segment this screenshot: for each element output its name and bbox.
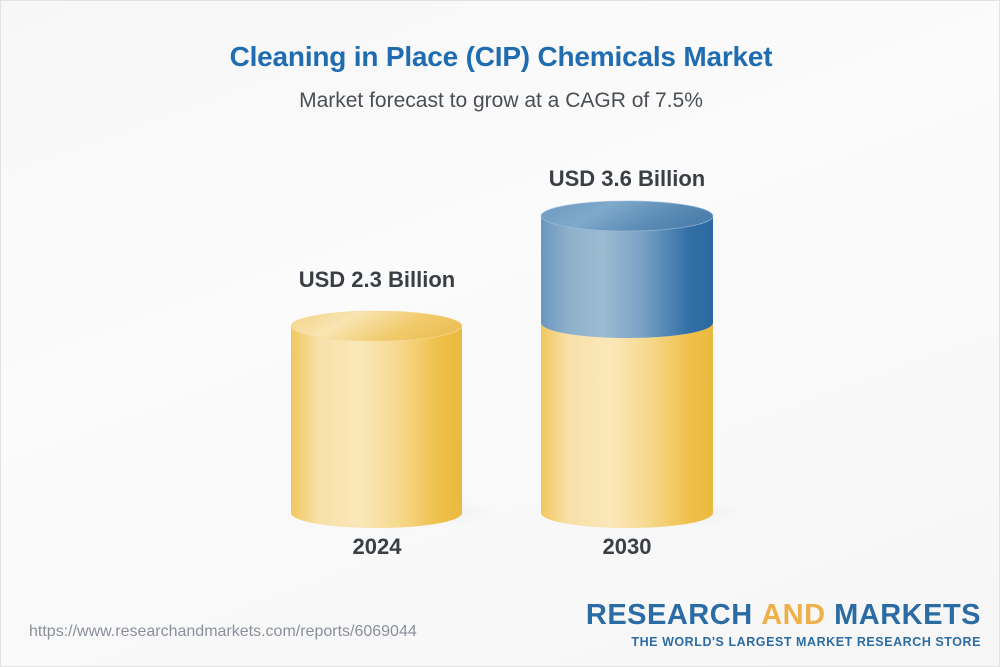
bar-2024	[288, 311, 498, 530]
logo-word-and: AND	[761, 599, 825, 631]
research-and-markets-logo[interactable]: RESEARCH AND MARKETS THE WORLD'S LARGEST…	[586, 601, 981, 649]
bar-segment-base-2030	[541, 323, 713, 528]
value-label-2024: USD 2.3 Billion	[257, 267, 497, 293]
bar-segment-growth-2030	[541, 216, 713, 338]
value-label-2030: USD 3.6 Billion	[507, 166, 747, 192]
logo-tagline: THE WORLD'S LARGEST MARKET RESEARCH STOR…	[586, 636, 981, 649]
category-label-2030: 2030	[507, 534, 747, 560]
logo-word-research: RESEARCH	[586, 599, 753, 631]
source-url[interactable]: https://www.researchandmarkets.com/repor…	[29, 623, 417, 641]
category-label-2024: 2024	[257, 534, 497, 560]
infographic-canvas: Cleaning in Place (CIP) Chemicals Market…	[0, 0, 1000, 667]
bar-2030	[538, 201, 748, 530]
logo-wordmark: RESEARCH AND MARKETS	[586, 601, 981, 630]
bar-body-2024	[291, 326, 462, 528]
logo-word-markets: MARKETS	[834, 599, 981, 631]
cylinder-bar-chart	[1, 1, 1000, 667]
